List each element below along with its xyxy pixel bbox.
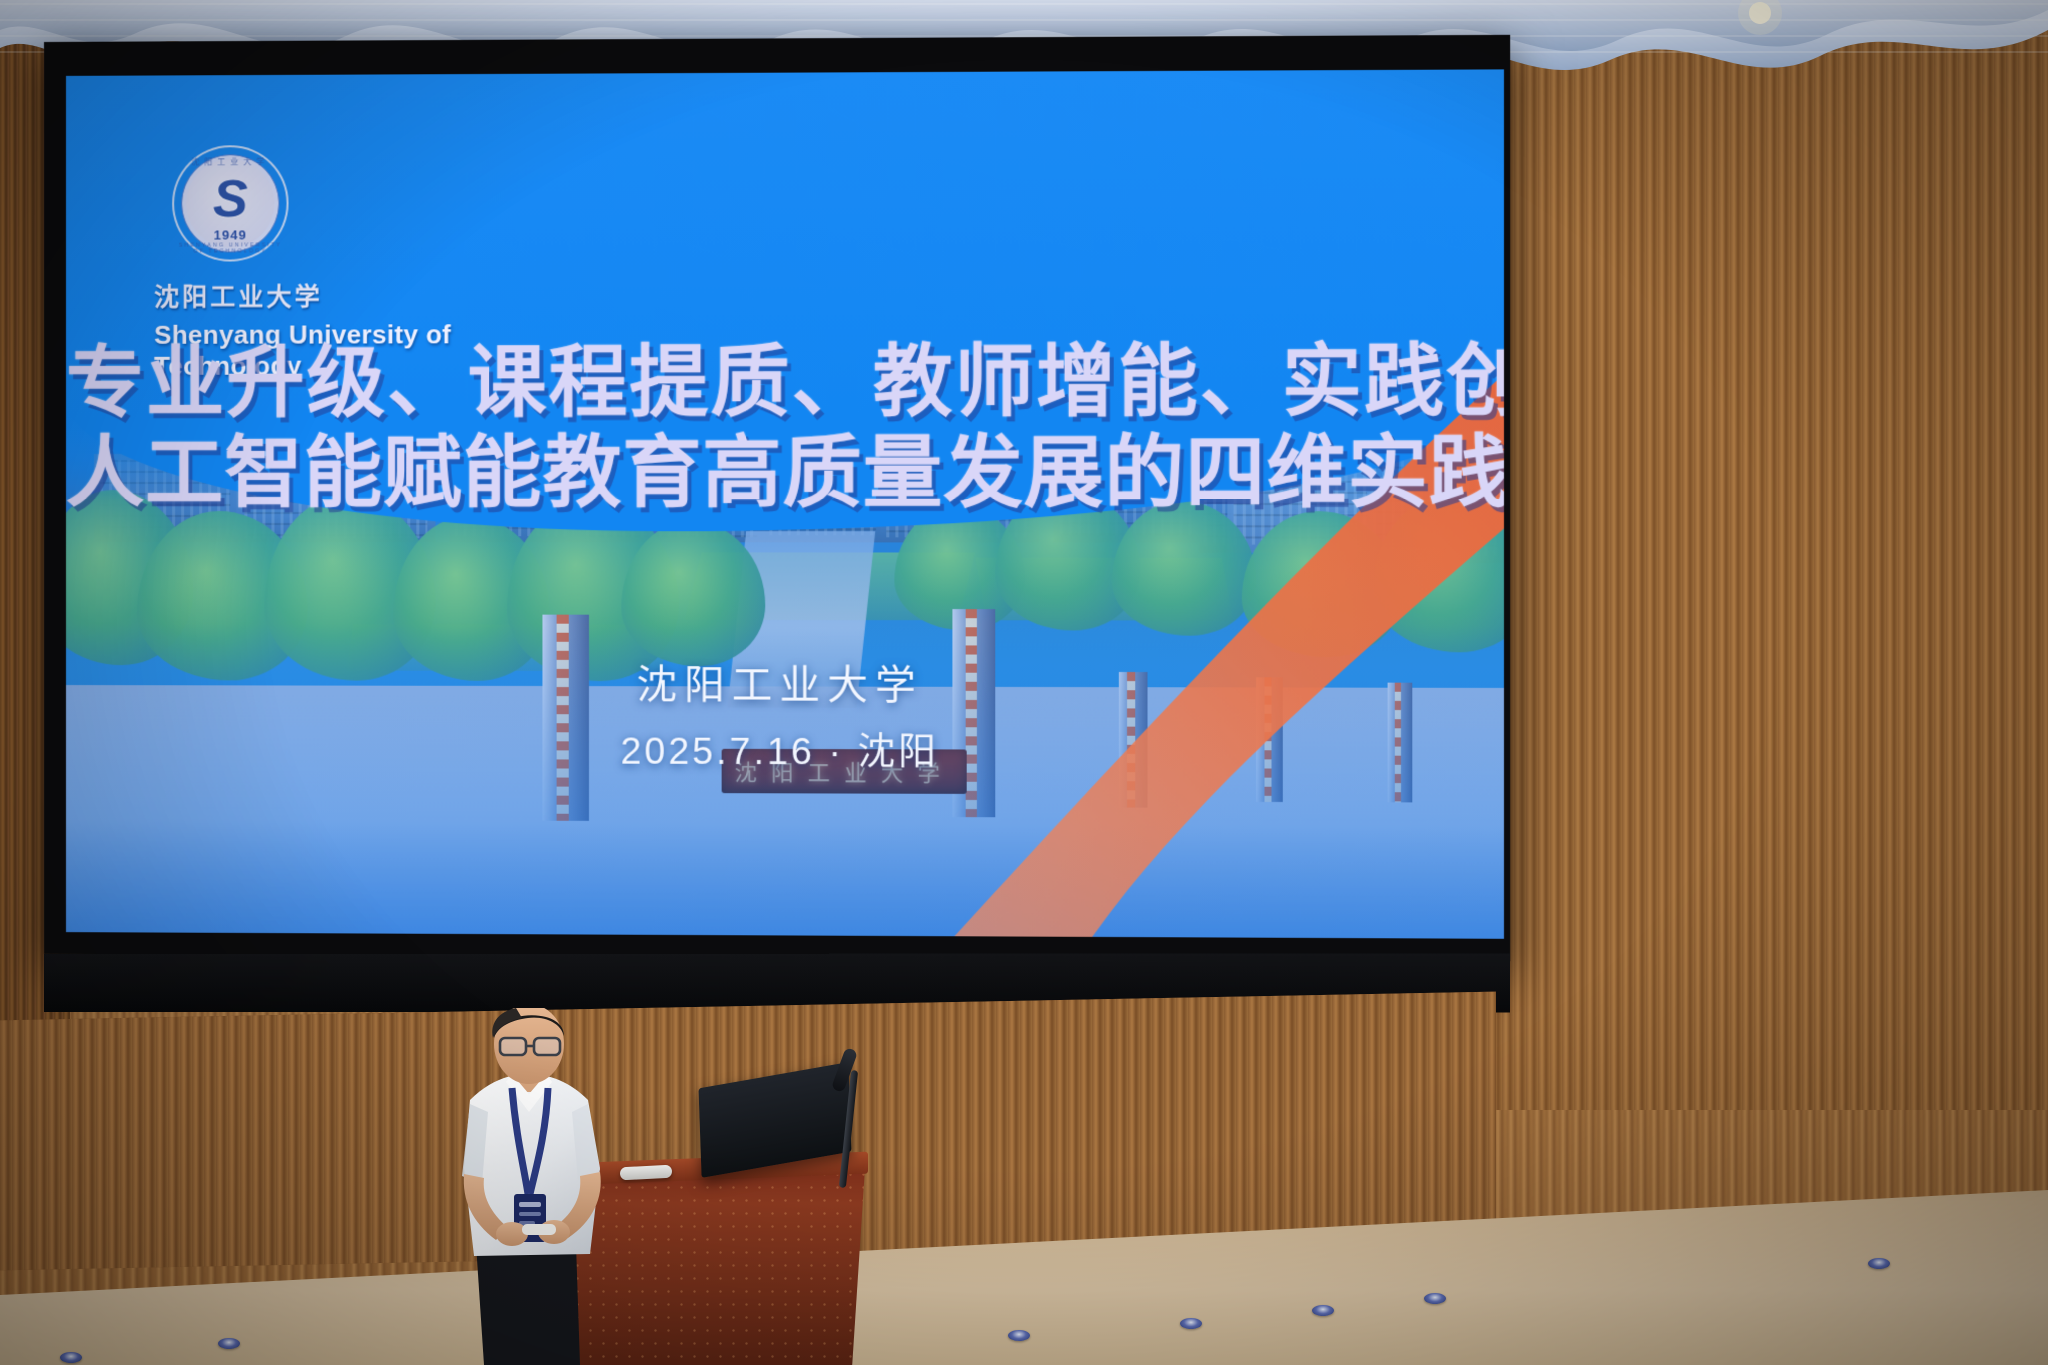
led-screen[interactable]: 沈阳工业大学 xyxy=(66,69,1504,938)
floor-marker xyxy=(218,1338,240,1349)
slide-title: 专业升级、课程提质、教师增能、实践创新： 人工智能赋能教育高质量发展的四维实践 xyxy=(66,335,1504,519)
university-name-cn: 沈阳工业大学 xyxy=(154,277,486,314)
floor-marker xyxy=(1312,1305,1334,1316)
footer-date-location: 2025.7.16 · 沈阳 xyxy=(66,719,1504,777)
led-screen-bezel: 沈阳工业大学 xyxy=(44,35,1510,961)
slide-footer: 沈阳工业大学 2025.7.16 · 沈阳 xyxy=(66,651,1504,777)
floor-marker xyxy=(1424,1293,1446,1304)
wall-panel-right xyxy=(1478,0,2048,1110)
presentation-slide: 沈阳工业大学 xyxy=(66,69,1504,938)
footer-organization: 沈阳工业大学 xyxy=(66,651,1504,712)
speaker-person xyxy=(404,1008,654,1365)
slide-title-line2: 人工智能赋能教育高质量发展的四维实践 xyxy=(66,427,1504,519)
floor-marker xyxy=(60,1352,82,1363)
crest-mark: S xyxy=(192,170,268,229)
crest-year: 1949 xyxy=(174,227,286,242)
crest-arc-cn: 沈阳工业大学 xyxy=(174,156,286,167)
floor-marker xyxy=(1868,1258,1890,1269)
university-crest-icon: 沈阳工业大学 S 1949 SHENYANG UNIVERSITY OF TEC… xyxy=(172,145,288,262)
crest-arc-en: SHENYANG UNIVERSITY OF TECHNOLOGY xyxy=(174,242,286,254)
floor-marker xyxy=(1008,1330,1030,1341)
scene-root: 沈阳工业大学 xyxy=(0,0,2048,1365)
slide-title-line1: 专业升级、课程提质、教师增能、实践创新： xyxy=(66,335,1504,428)
floor-marker xyxy=(1180,1318,1202,1329)
